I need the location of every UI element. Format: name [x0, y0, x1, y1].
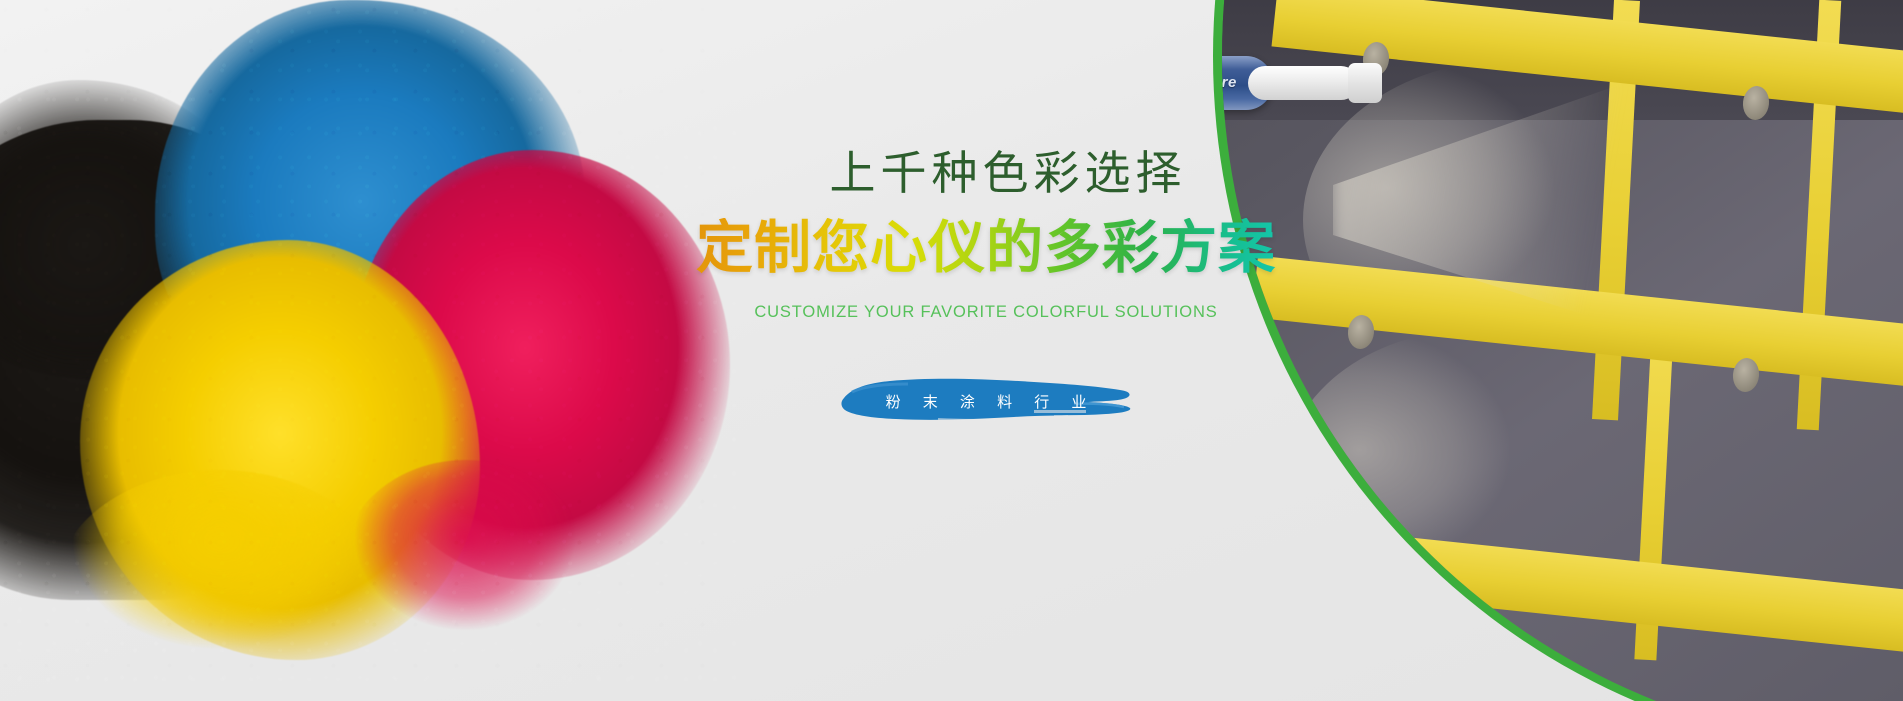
headline-primary: 上千种色彩选择 [676, 150, 1296, 196]
banner-copy: 上千种色彩选择 定制您心仪的多彩方案 CUSTOMIZE YOUR FAVORI… [676, 150, 1296, 550]
headline-secondary: 定制您心仪的多彩方案 [676, 218, 1296, 280]
powder-image [0, 0, 740, 701]
spray-gun-nozzle [1348, 63, 1382, 103]
powder-grain-texture [0, 0, 740, 701]
hero-banner: Encore 上千种色彩选择 定制您心仪的多彩方案 CUSTOMIZE YOUR… [0, 0, 1903, 701]
subtitle-english: CUSTOMIZE YOUR FAVORITE COLORFUL SOLUTIO… [676, 303, 1296, 322]
industry-badge-label: 粉 末 涂 料 行 业 [838, 391, 1134, 412]
spray-gun-brand-label: Encore [1183, 74, 1237, 91]
spray-gun-neck [1248, 66, 1358, 100]
industry-badge: 粉 末 涂 料 行 业 [838, 374, 1134, 428]
spray-gun-handle [1043, 56, 1273, 110]
